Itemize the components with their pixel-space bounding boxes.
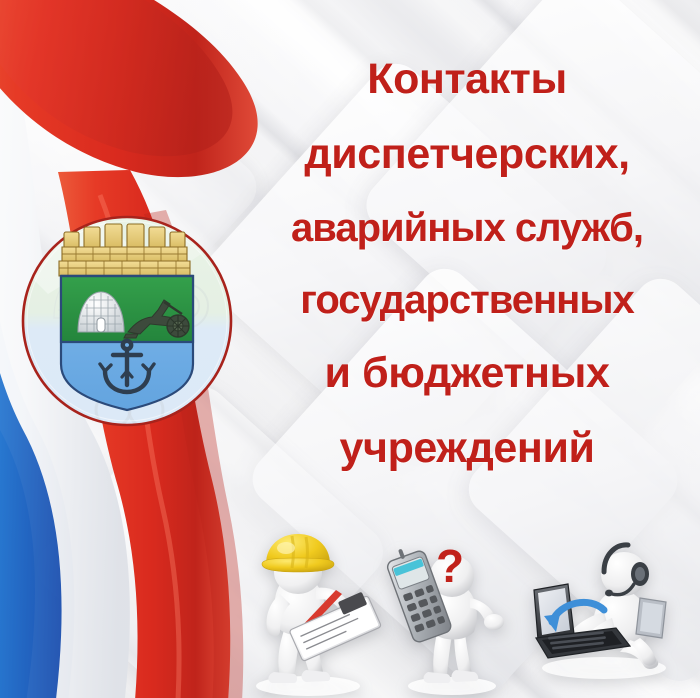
figure-operator-with-headset-and-laptop (512, 540, 682, 698)
question-mark-icon: ? (436, 540, 464, 592)
shield (61, 276, 193, 410)
headline-line-6: учреждений (236, 427, 698, 470)
hard-hat-icon (262, 534, 334, 572)
emblem-coat-of-arms (18, 214, 236, 428)
headline-line-1: Контакты (236, 58, 698, 101)
figure-caller-with-question-mark: ? (386, 536, 518, 698)
headline-line-4: государственных (236, 280, 698, 320)
headline-line-3: аварийных служб, (236, 208, 698, 248)
headline-line-5: и бюджетных (236, 352, 698, 395)
tablet-icon (636, 598, 666, 638)
figure-inspector-with-clipboard (236, 528, 394, 698)
poster-image: Контакты диспетчерских, аварийных служб,… (0, 0, 700, 698)
headline-line-2: диспетчерских, (236, 133, 698, 176)
page-title: Контакты диспетчерских, аварийных служб,… (236, 58, 698, 470)
